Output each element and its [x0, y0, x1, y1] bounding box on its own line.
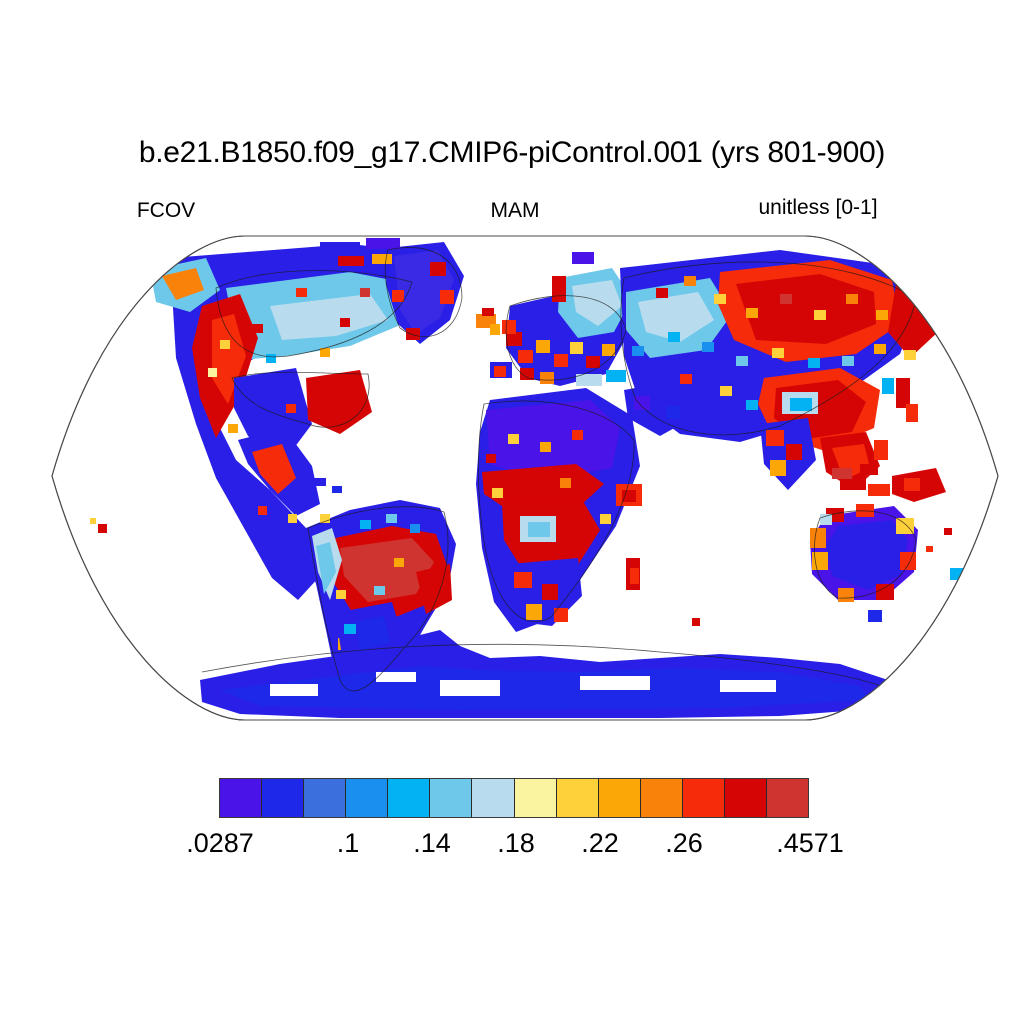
colorbar-swatch-11 — [683, 779, 725, 817]
colorbar-swatch-12 — [725, 779, 767, 817]
page-title: b.e21.B1850.f09_g17.CMIP6-piControl.001 … — [0, 136, 1024, 170]
colorbar-tick-5: .26 — [665, 828, 703, 858]
colorbar-tick-1: .1 — [337, 828, 360, 858]
colorbar-tick-2: .14 — [413, 828, 451, 858]
colorbar-swatch-1 — [262, 779, 304, 817]
colorbar-swatch-7 — [515, 779, 557, 817]
colorbar-swatch-5 — [430, 779, 472, 817]
colorbar-swatch-2 — [304, 779, 346, 817]
colorbar-swatch-13 — [767, 779, 808, 817]
map-plot-area — [20, 228, 1010, 728]
colorbar-swatch-8 — [557, 779, 599, 817]
colorbar-swatch-10 — [641, 779, 683, 817]
units-label: unitless [0-1] — [758, 196, 877, 220]
colorbar-swatch-0 — [220, 779, 262, 817]
colorbar-tick-4: .22 — [581, 828, 619, 858]
variable-label: FCOV — [137, 199, 195, 223]
season-label: MAM — [491, 199, 540, 223]
climate-map-figure: b.e21.B1850.f09_g17.CMIP6-piControl.001 … — [0, 0, 1024, 1024]
colorbar-swatch-9 — [599, 779, 641, 817]
colorbar-swatch-4 — [388, 779, 430, 817]
world-map-svg — [20, 228, 1010, 728]
colorbar-tick-3: .18 — [497, 828, 535, 858]
colorbar-swatch-6 — [472, 779, 514, 817]
colorbar-tick-6: .4571 — [776, 828, 844, 858]
colorbar-tick-0: .0287 — [186, 828, 254, 858]
colorbar-swatch-3 — [346, 779, 388, 817]
colorbar[interactable] — [219, 778, 809, 818]
